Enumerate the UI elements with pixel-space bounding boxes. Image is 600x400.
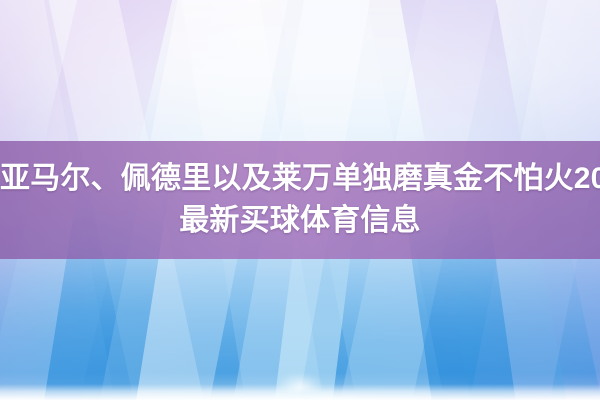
promo-banner: 亚马尔、佩德里以及莱万单独磨真金不怕火2024 最新买球体育信息 <box>0 0 600 400</box>
headline-line-2: 最新买球体育信息 <box>0 200 600 242</box>
bottom-watermark-smudge <box>278 374 322 392</box>
headline-overlay-band: 亚马尔、佩德里以及莱万单独磨真金不怕火2024 最新买球体育信息 <box>0 141 600 259</box>
headline-line-1: 亚马尔、佩德里以及莱万单独磨真金不怕火2024 <box>0 158 600 200</box>
